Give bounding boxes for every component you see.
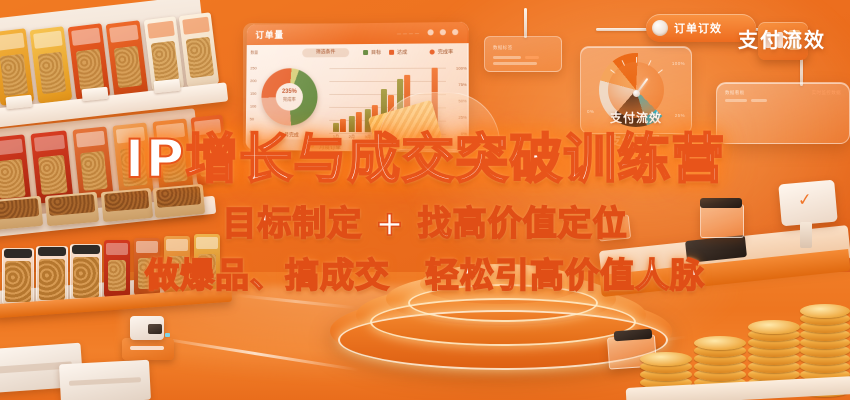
gauge-right-tick: 100% (672, 61, 685, 66)
white-box (59, 360, 151, 400)
device-label-strip (130, 346, 164, 350)
right-axis-tick: 100% (456, 66, 467, 71)
hanging-tag-caption: 数据标签 (493, 45, 513, 51)
yaxis-caption: 数量 (250, 50, 258, 56)
legend-label-rate: 完成率 (438, 48, 453, 55)
gauge-tick (648, 60, 652, 66)
legend-label-target: 目标 (371, 49, 381, 56)
card-bar (751, 99, 767, 102)
right-axis-tick: 75% (458, 82, 466, 87)
legend-label-actual: 达成 (397, 49, 407, 56)
legend-swatch-rate (430, 50, 435, 55)
filter-chip[interactable]: 筛选条件 (302, 48, 349, 57)
gauge-tick (610, 69, 615, 73)
device-indicator (165, 333, 170, 337)
payment-flow-title: 支付流效 (716, 24, 848, 53)
gauge-card-label: 支付流效 (581, 109, 691, 126)
tag-bar (493, 56, 521, 59)
panel-header: 订单量 — — — — (247, 22, 469, 45)
subtitle-line-2: 做爆品、搞成交 轻松引高价值人脉 (0, 256, 850, 296)
coin-top (748, 320, 800, 334)
tag-bar (493, 62, 537, 65)
device-screen (148, 324, 162, 334)
donut-center-sub: 完成率 (272, 97, 307, 103)
gauge-tick (622, 60, 626, 66)
payment-card-meta-left: 数据看板 (725, 90, 745, 96)
tag-bar-accent (525, 56, 539, 59)
panel-title: 订单量 (255, 28, 284, 41)
card-bar (725, 99, 747, 102)
gauge-needle-cap (633, 90, 640, 97)
connector-wire (524, 8, 527, 38)
panel-head-meta: — — — — (397, 30, 419, 35)
gauge-tick (636, 57, 637, 63)
knob-icon[interactable] (652, 20, 668, 36)
minimize-icon[interactable] (440, 29, 446, 35)
promo-banner: 订单量 — — — — 筛选条件 数量 目标 达成 完成率 250 (0, 0, 850, 400)
ytick: 250 (250, 65, 256, 70)
legend-swatch-target (363, 50, 368, 55)
chevron-left-icon[interactable] (428, 29, 434, 35)
gauge-tick (657, 69, 662, 73)
ytick: 200 (250, 78, 256, 83)
order-efficiency-label: 订单订效 (674, 20, 722, 36)
ytick: 100 (250, 104, 256, 109)
donut-center-value: 235% (272, 89, 307, 95)
gauge-card[interactable]: 0% 100% 25% 支付流效 (580, 46, 692, 134)
payment-card-meta-right: 实时监控数据 (812, 90, 841, 96)
connector-wire (596, 28, 648, 31)
close-icon[interactable] (452, 29, 458, 35)
coin-top (800, 304, 850, 318)
legend-swatch-actual (389, 50, 394, 55)
ytick: 150 (250, 91, 256, 96)
page-title: IP增长与成交突破训练营 (0, 131, 850, 189)
coin-top (640, 352, 692, 366)
subtitle-line-1: 目标制定 + 找高价值定位 (0, 204, 850, 244)
ytick: 50 (250, 116, 254, 121)
coin-top (694, 336, 746, 350)
hanging-tag-card[interactable]: 数据标签 (484, 36, 562, 72)
